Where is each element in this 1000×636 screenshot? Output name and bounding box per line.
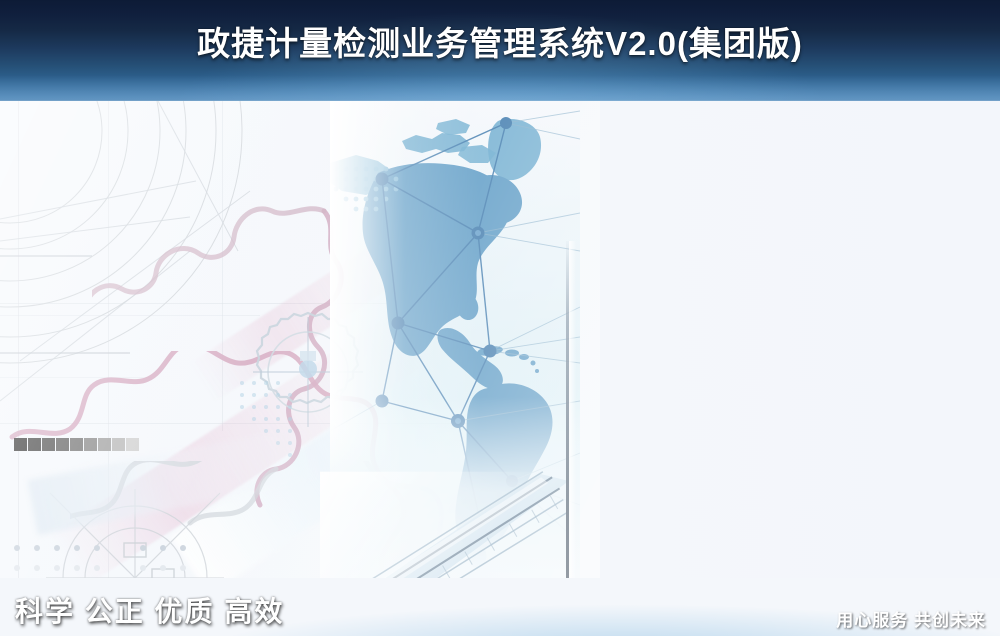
footer-slogan-secondary: 用心服务 共创未来: [836, 606, 986, 631]
grayscale-calibration-strip: [14, 438, 140, 451]
screen-edge-highlight: [569, 241, 576, 578]
indicator-dots-row-faint: [14, 565, 200, 571]
laptop-keyboard-graphic: [320, 471, 580, 578]
content-area: [0, 101, 1000, 578]
page-title: 政捷计量检测业务管理系统V2.0(集团版): [0, 22, 1000, 66]
app-footer: 科学 公正 优质 高效 用心服务 共创未来: [0, 578, 1000, 636]
app-header: 政捷计量检测业务管理系统V2.0(集团版): [0, 0, 1000, 101]
indicator-dots-row: [14, 545, 200, 551]
header-sheen: [0, 75, 1000, 101]
application-window: 政捷计量检测业务管理系统V2.0(集团版): [0, 0, 1000, 636]
footer-slogan-primary: 科学 公正 优质 高效: [15, 590, 284, 630]
splash-banner-graphic: [0, 101, 600, 578]
